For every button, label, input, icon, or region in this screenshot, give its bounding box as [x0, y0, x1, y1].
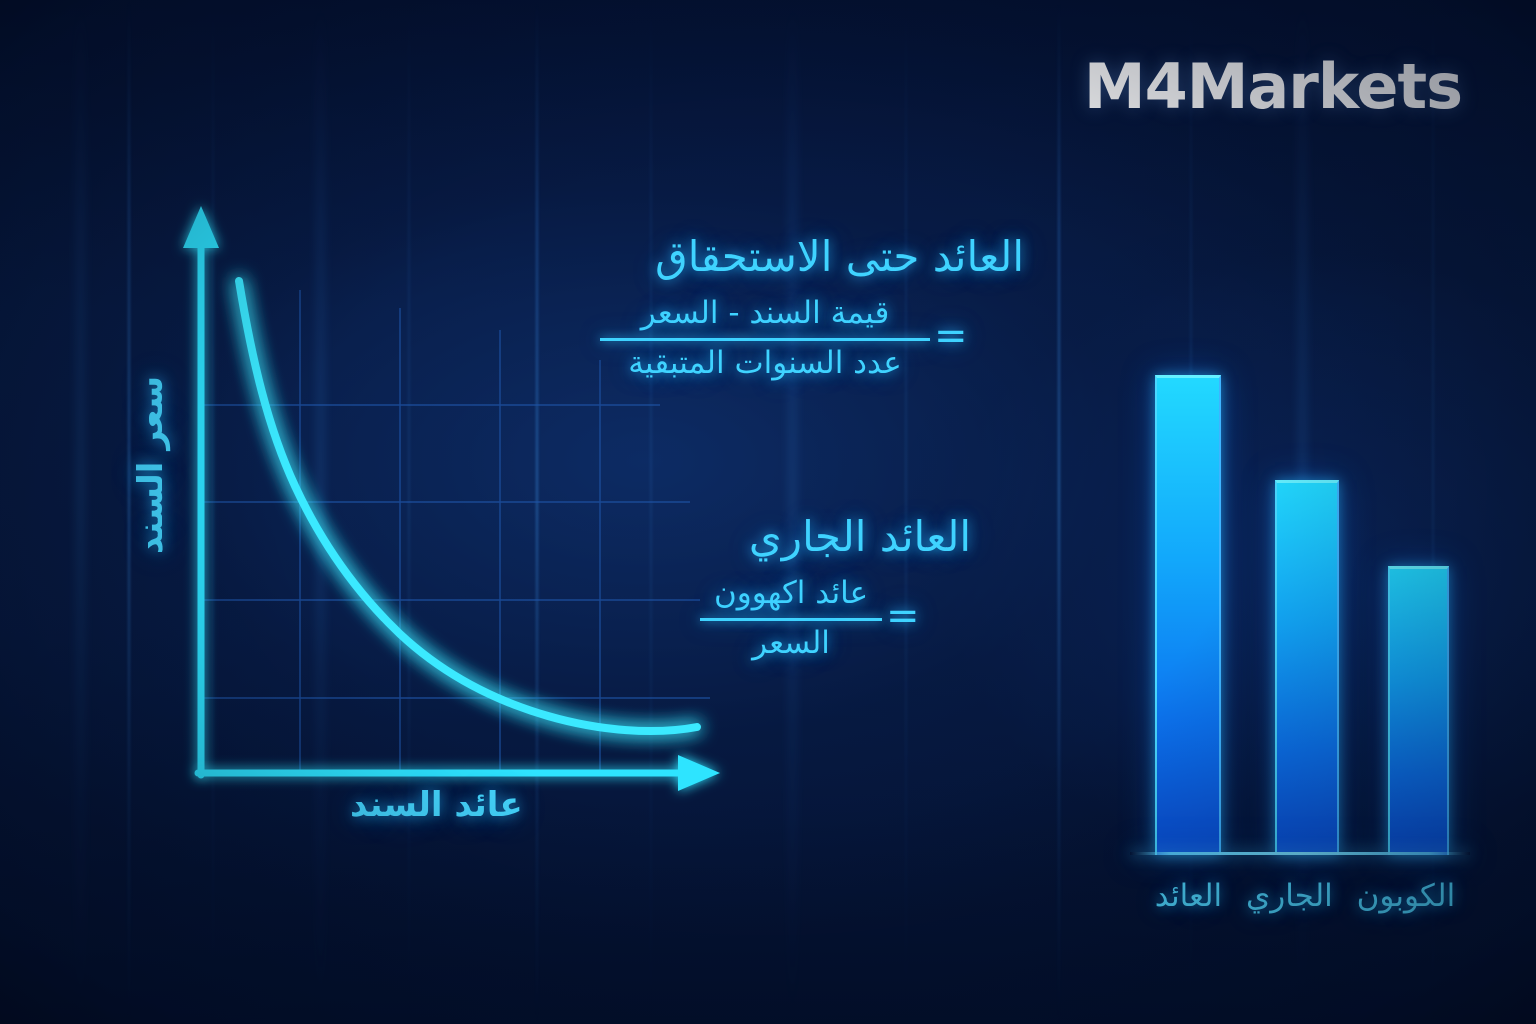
brand-logo: M4Markets	[1084, 56, 1462, 118]
bar-chart-bars	[1120, 330, 1490, 855]
bar	[1275, 480, 1339, 855]
fraction-bar	[600, 338, 930, 341]
bar-label-0: الكوبون	[1357, 878, 1456, 914]
fraction-denominator: عدد السنوات المتبقية	[622, 345, 908, 382]
formula-body: = قيمة السند - السعر عدد السنوات المتبقي…	[600, 295, 1030, 381]
fraction: قيمة السند - السعر عدد السنوات المتبقية	[600, 295, 930, 381]
infographic-canvas: M4Markets	[0, 0, 1536, 1024]
bar-chart: الكوبون الجاري العائد	[1120, 330, 1490, 940]
x-axis-label: عائد السند	[350, 785, 523, 825]
bar	[1155, 375, 1221, 855]
y-axis	[183, 206, 219, 775]
fraction-denominator: السعر	[746, 625, 836, 662]
equals-sign: =	[934, 316, 968, 360]
bar	[1388, 566, 1449, 855]
fraction-numerator: قيمة السند - السعر	[635, 295, 896, 332]
fraction-bar	[700, 618, 882, 621]
y-axis-label: سعر السند	[131, 376, 171, 554]
streak	[78, 0, 83, 1024]
equals-sign: =	[886, 596, 920, 640]
formula-current-yield: العائد الجاري = عائد اكهوون السعر	[700, 512, 1030, 661]
formula-body: = عائد اكهوون السعر	[700, 575, 1030, 661]
bar-label-2: العائد	[1155, 878, 1222, 914]
streak	[1058, 0, 1060, 1024]
formula-title: العائد الجاري	[700, 512, 1030, 561]
fraction: عائد اكهوون السعر	[700, 575, 882, 661]
formula-title: العائد حتى الاستحقاق	[600, 232, 1030, 281]
bar-chart-labels: الكوبون الجاري العائد	[1120, 878, 1490, 914]
fraction-numerator: عائد اكهوون	[708, 575, 874, 612]
formula-yield-to-maturity: العائد حتى الاستحقاق = قيمة السند - السع…	[600, 232, 1030, 381]
bar-label-1: الجاري	[1246, 878, 1333, 914]
bar-chart-baseline	[1130, 852, 1470, 855]
